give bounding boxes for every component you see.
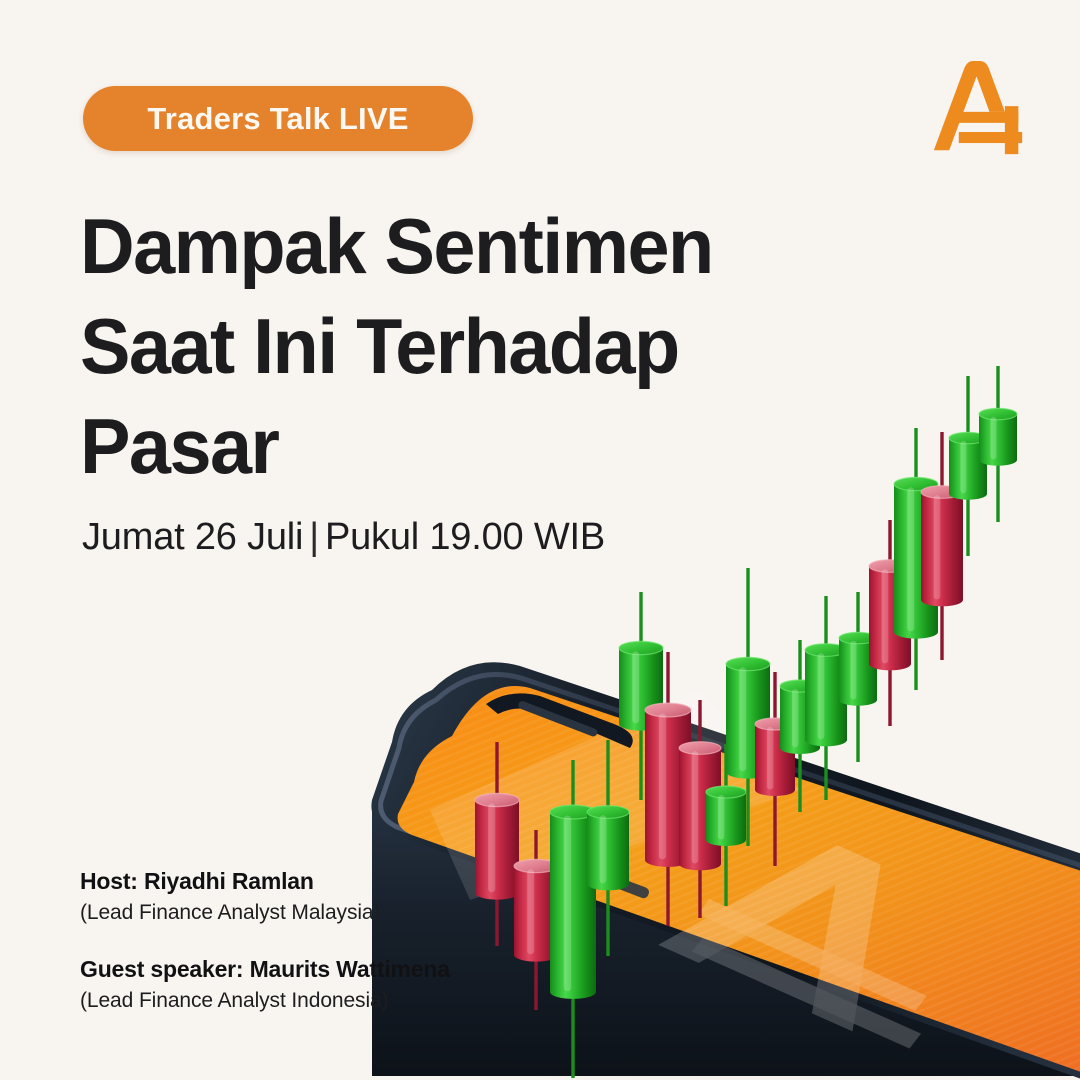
event-date: Jumat 26 Juli (82, 516, 303, 558)
guest-entry: Guest speaker: Maurits Wattimena (Lead F… (80, 954, 550, 1016)
page-title: Dampak Sentimen Saat Ini Terhadap Pasar (80, 196, 800, 496)
host-entry: Host: Riyadhi Ramlan (Lead Finance Analy… (80, 866, 550, 928)
event-schedule: Jumat 26 Juli|Pukul 19.00 WIB (82, 513, 605, 561)
live-badge[interactable]: Traders Talk LIVE (83, 86, 473, 151)
host-name: Host: Riyadhi Ramlan (80, 866, 550, 896)
live-badge-label: Traders Talk LIVE (147, 101, 408, 137)
headline-line-2: Saat Ini Terhadap (80, 296, 778, 396)
schedule-separator: | (303, 516, 325, 558)
brand-a-logo (930, 58, 1026, 158)
headline-line-3: Pasar (80, 396, 778, 496)
host-role: (Lead Finance Analyst Malaysia) (80, 898, 550, 928)
guest-role: (Lead Finance Analyst Indonesia) (80, 986, 550, 1016)
speakers-block: Host: Riyadhi Ramlan (Lead Finance Analy… (80, 866, 550, 1016)
poster-canvas: Traders Talk LIVE Dampak Sentimen Saat I… (0, 0, 1080, 1080)
guest-name: Guest speaker: Maurits Wattimena (80, 954, 550, 984)
event-time: Pukul 19.00 WIB (325, 516, 605, 558)
brand-a-logo-mark (930, 58, 1026, 158)
headline-line-1: Dampak Sentimen (80, 196, 778, 296)
